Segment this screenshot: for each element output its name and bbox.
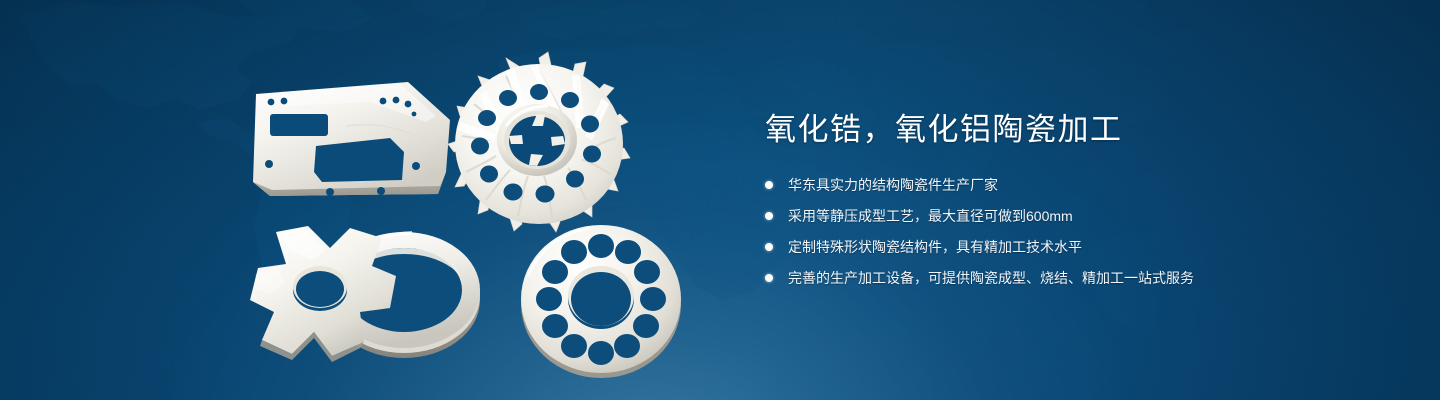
ceramic-cross-and-ring-image <box>246 216 516 368</box>
bullet-dot-icon <box>765 243 773 251</box>
list-item: 完善的生产加工设备，可提供陶瓷成型、烧结、精加工一站式服务 <box>765 269 1325 287</box>
ceramic-impeller-image <box>444 48 634 238</box>
feature-text: 采用等静压成型工艺，最大直径可做到600mm <box>788 208 1073 224</box>
feature-list: 华东具实力的结构陶瓷件生产厂家 采用等静压成型工艺，最大直径可做到600mm 定… <box>765 176 1325 287</box>
product-image-group <box>228 34 728 384</box>
feature-text: 华东具实力的结构陶瓷件生产厂家 <box>788 177 998 193</box>
hero-banner: 氧化锆，氧化铝陶瓷加工 华东具实力的结构陶瓷件生产厂家 采用等静压成型工艺，最大… <box>0 0 1440 400</box>
bullet-dot-icon <box>765 212 773 220</box>
feature-text: 完善的生产加工设备，可提供陶瓷成型、烧结、精加工一站式服务 <box>788 270 1194 286</box>
banner-copy: 氧化锆，氧化铝陶瓷加工 华东具实力的结构陶瓷件生产厂家 采用等静压成型工艺，最大… <box>765 110 1325 287</box>
ceramic-plate-image <box>250 76 460 201</box>
bullet-dot-icon <box>765 181 773 189</box>
ceramic-disc-image <box>516 220 686 380</box>
bullet-dot-icon <box>765 274 773 282</box>
page-title: 氧化锆，氧化铝陶瓷加工 <box>765 110 1325 150</box>
feature-text: 定制特殊形状陶瓷结构件，具有精加工技术水平 <box>788 239 1082 255</box>
list-item: 采用等静压成型工艺，最大直径可做到600mm <box>765 207 1325 225</box>
list-item: 华东具实力的结构陶瓷件生产厂家 <box>765 176 1325 194</box>
list-item: 定制特殊形状陶瓷结构件，具有精加工技术水平 <box>765 238 1325 256</box>
